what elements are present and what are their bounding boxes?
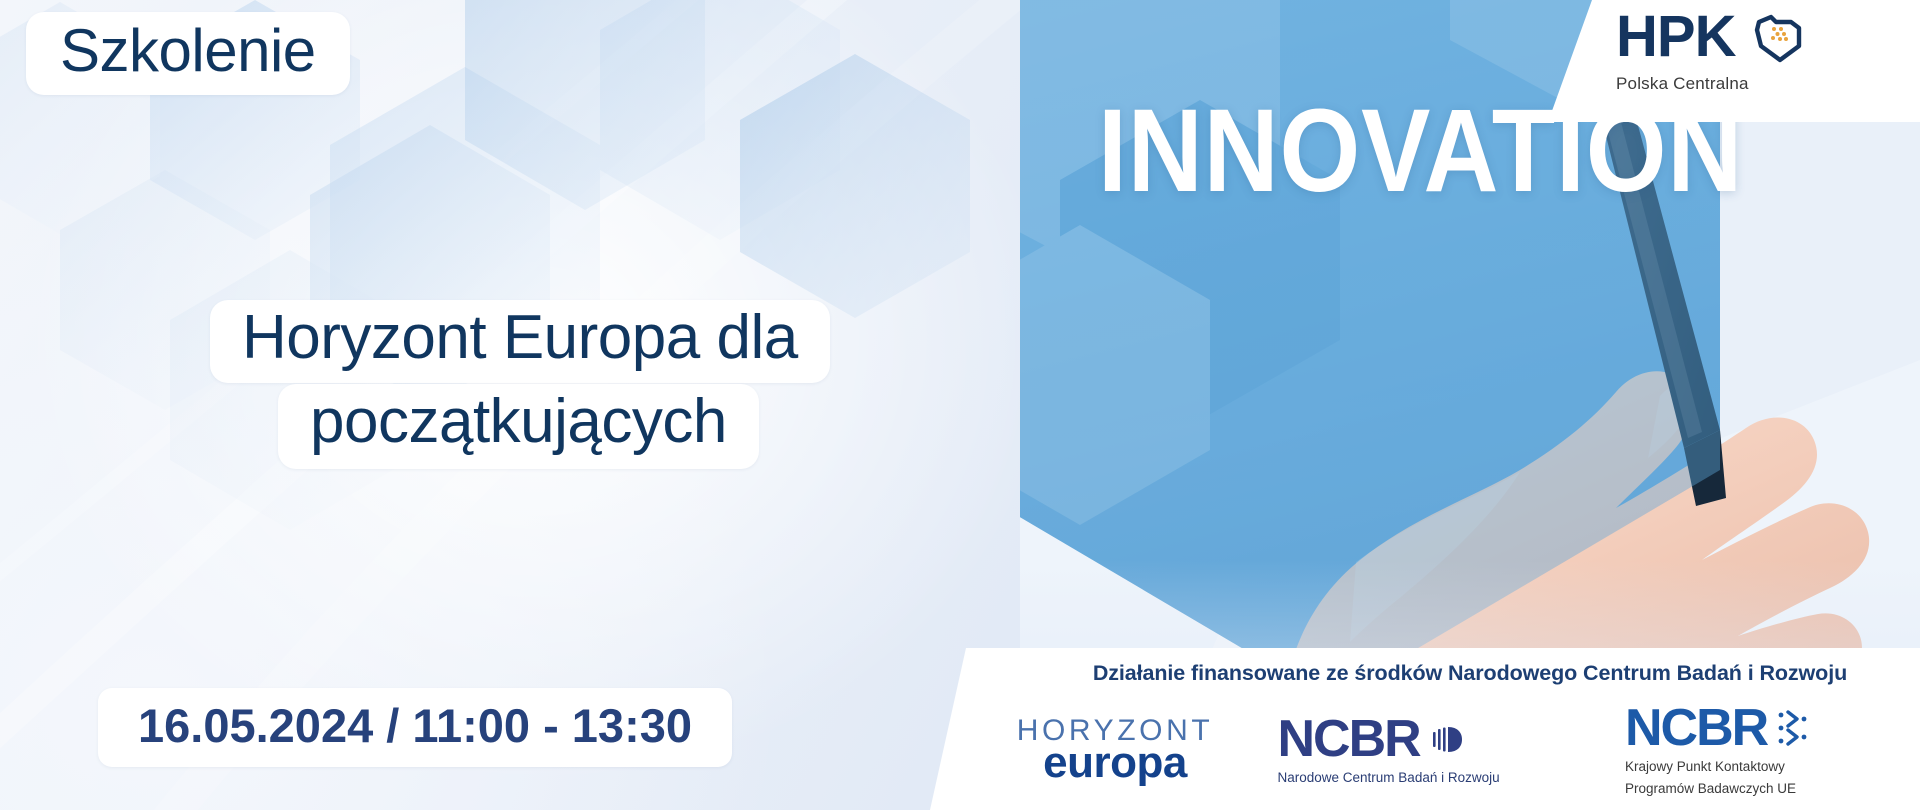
ncbr-kpk-subtitle-line-1: Krajowy Punkt Kontaktowy xyxy=(1625,759,1915,776)
partner-logo-row: HORYZONT europa NCBR Narodowe Centrum Ba… xyxy=(1010,700,1915,800)
funding-note: Działanie finansowane ze środków Narodow… xyxy=(1030,661,1910,686)
event-datetime-badge: 16.05.2024 / 11:00 - 13:30 xyxy=(98,688,732,767)
poland-map-icon xyxy=(1749,8,1809,66)
hpk-subtitle: Polska Centralna xyxy=(1616,74,1809,94)
ncbr-kpk-logo: NCBR Krajowy Punkt Kontaktowy Programów … xyxy=(1625,702,1915,798)
ncbr-wordmark: NCBR xyxy=(1278,713,1420,765)
horyzont-europa-line-bottom: europa xyxy=(1043,741,1187,785)
ncbr-kpk-subtitle-line-2: Programów Badawczych UE xyxy=(1625,781,1915,798)
hpk-wordmark: HPK xyxy=(1616,8,1735,66)
ncbr-striped-dot-icon xyxy=(1428,719,1468,759)
event-promo-banner: INNOVATION HPK Polska Centralna Szkoleni… xyxy=(0,0,1920,810)
ncbr-kpk-chevron-dots-icon xyxy=(1775,707,1813,749)
page-title-line-2: początkujących xyxy=(278,384,759,469)
page-title-line-1: Horyzont Europa dla xyxy=(210,300,830,383)
hpk-logo-panel: HPK Polska Centralna xyxy=(1530,0,1920,122)
ncbr-narodowe-logo: NCBR Narodowe Centrum Badań i Rozwoju xyxy=(1278,713,1568,787)
ncbr-kpk-wordmark: NCBR xyxy=(1625,702,1767,754)
ncbr-subtitle-line-1: Narodowe Centrum Badań i Rozwoju xyxy=(1278,770,1568,787)
horyzont-europa-logo: HORYZONT europa xyxy=(1010,716,1220,785)
event-type-badge: Szkolenie xyxy=(26,12,350,95)
